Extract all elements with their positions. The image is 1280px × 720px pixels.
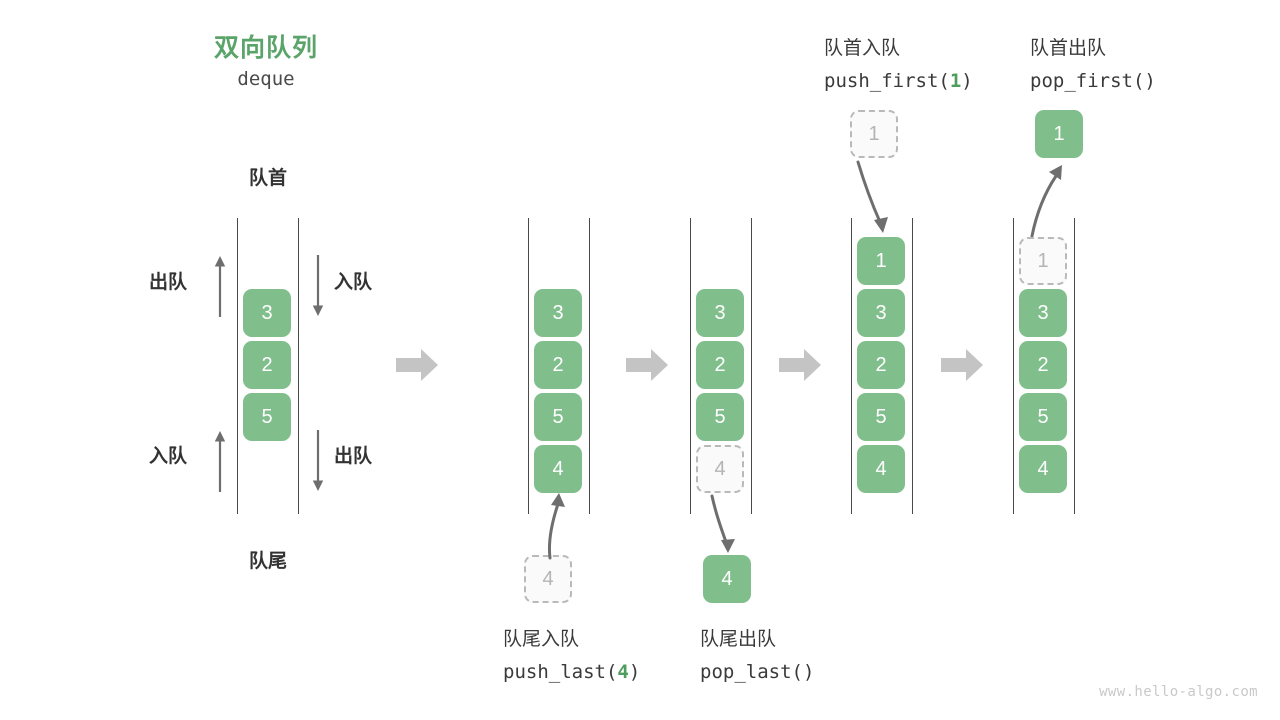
push-last-label-code: push_last(4) bbox=[503, 661, 640, 683]
panel2-cell: 2 bbox=[534, 341, 582, 389]
pop-last-label-cn: 队尾出队 bbox=[700, 624, 776, 651]
pop-first-code-prefix: pop_first( bbox=[1030, 70, 1144, 92]
queue-head-label: 队首 bbox=[238, 163, 298, 190]
panel5-pop-first-arrow-icon bbox=[1010, 160, 1080, 238]
panel4-floating-ghost-cell: 1 bbox=[850, 110, 898, 158]
panel2-cell: 3 bbox=[534, 289, 582, 337]
pop-first-code-suffix: ) bbox=[1144, 70, 1155, 92]
pop-last-label-code: pop_last() bbox=[700, 661, 814, 683]
pop-first-label-code: pop_first() bbox=[1030, 70, 1156, 92]
panel3-pop-last-arrow-icon bbox=[690, 494, 760, 564]
dequeue-head-label: 出队 bbox=[149, 267, 187, 294]
panel4-rail-right bbox=[912, 218, 913, 514]
queue-tail-label: 队尾 bbox=[238, 546, 298, 573]
dequeue-tail-label: 出队 bbox=[334, 441, 372, 468]
panel2-rail-left bbox=[528, 218, 529, 514]
site-watermark: www.hello-algo.com bbox=[1099, 684, 1258, 700]
panel4-rail-left bbox=[851, 218, 852, 514]
page-title-en: deque bbox=[171, 68, 361, 90]
enqueue-head-label: 入队 bbox=[334, 267, 372, 294]
dequeue-tail-arrow-down-icon bbox=[311, 430, 325, 492]
panel4-cell: 3 bbox=[857, 289, 905, 337]
panel2-cell: 5 bbox=[534, 393, 582, 441]
panel2-push-last-arrow-icon bbox=[520, 484, 590, 564]
page-title-cn: 双向队列 bbox=[171, 28, 361, 64]
left-panel-cell: 3 bbox=[243, 289, 291, 337]
flow-chevron-icon bbox=[779, 348, 821, 382]
flow-chevron-icon bbox=[626, 348, 668, 382]
push-first-label-code: push_first(1) bbox=[824, 70, 973, 92]
enqueue-tail-label: 入队 bbox=[149, 441, 187, 468]
push-last-label-cn: 队尾入队 bbox=[503, 624, 579, 651]
panel5-rail-left bbox=[1013, 218, 1014, 514]
enqueue-head-arrow-down-icon bbox=[311, 255, 325, 317]
panel5-rail-right bbox=[1074, 218, 1075, 514]
panel5-floating-cell: 1 bbox=[1035, 110, 1083, 158]
push-last-code-value: 4 bbox=[617, 661, 628, 683]
panel3-cell: 3 bbox=[696, 289, 744, 337]
panel5-cell: 4 bbox=[1019, 445, 1067, 493]
panel3-cell: 2 bbox=[696, 341, 744, 389]
panel3-cell: 5 bbox=[696, 393, 744, 441]
panel3-rail-left bbox=[690, 218, 691, 514]
push-first-label-cn: 队首入队 bbox=[824, 33, 900, 60]
flow-chevron-icon bbox=[396, 348, 438, 382]
dequeue-head-arrow-up-icon bbox=[213, 255, 227, 317]
left-panel-cell: 2 bbox=[243, 341, 291, 389]
push-first-code-value: 1 bbox=[950, 70, 961, 92]
push-last-code-prefix: push_last( bbox=[503, 661, 617, 683]
panel5-removed-ghost-cell: 1 bbox=[1019, 237, 1067, 285]
panel5-cell: 5 bbox=[1019, 393, 1067, 441]
pop-last-code-suffix: ) bbox=[803, 661, 814, 683]
left-panel-rail-left bbox=[237, 218, 238, 514]
push-first-code-suffix: ) bbox=[961, 70, 972, 92]
pop-last-code-prefix: pop_last( bbox=[700, 661, 803, 683]
panel5-cell: 3 bbox=[1019, 289, 1067, 337]
pop-first-label-cn: 队首出队 bbox=[1030, 33, 1106, 60]
flow-chevron-icon bbox=[941, 348, 983, 382]
left-panel-cell: 5 bbox=[243, 393, 291, 441]
panel2-rail-right bbox=[589, 218, 590, 514]
panel5-cell: 2 bbox=[1019, 341, 1067, 389]
panel4-cell: 4 bbox=[857, 445, 905, 493]
panel4-cell-new: 1 bbox=[857, 237, 905, 285]
panel4-cell: 2 bbox=[857, 341, 905, 389]
push-last-code-suffix: ) bbox=[629, 661, 640, 683]
panel3-removed-ghost-cell: 4 bbox=[696, 445, 744, 493]
left-panel-rail-right bbox=[298, 218, 299, 514]
enqueue-tail-arrow-up-icon bbox=[213, 430, 227, 492]
panel3-rail-right bbox=[751, 218, 752, 514]
panel4-cell: 5 bbox=[857, 393, 905, 441]
diagram-canvas: 双向队列 deque 队首 3 2 5 出队 入队 入队 出队 队尾 3 2 5… bbox=[0, 0, 1280, 720]
push-first-code-prefix: push_first( bbox=[824, 70, 950, 92]
